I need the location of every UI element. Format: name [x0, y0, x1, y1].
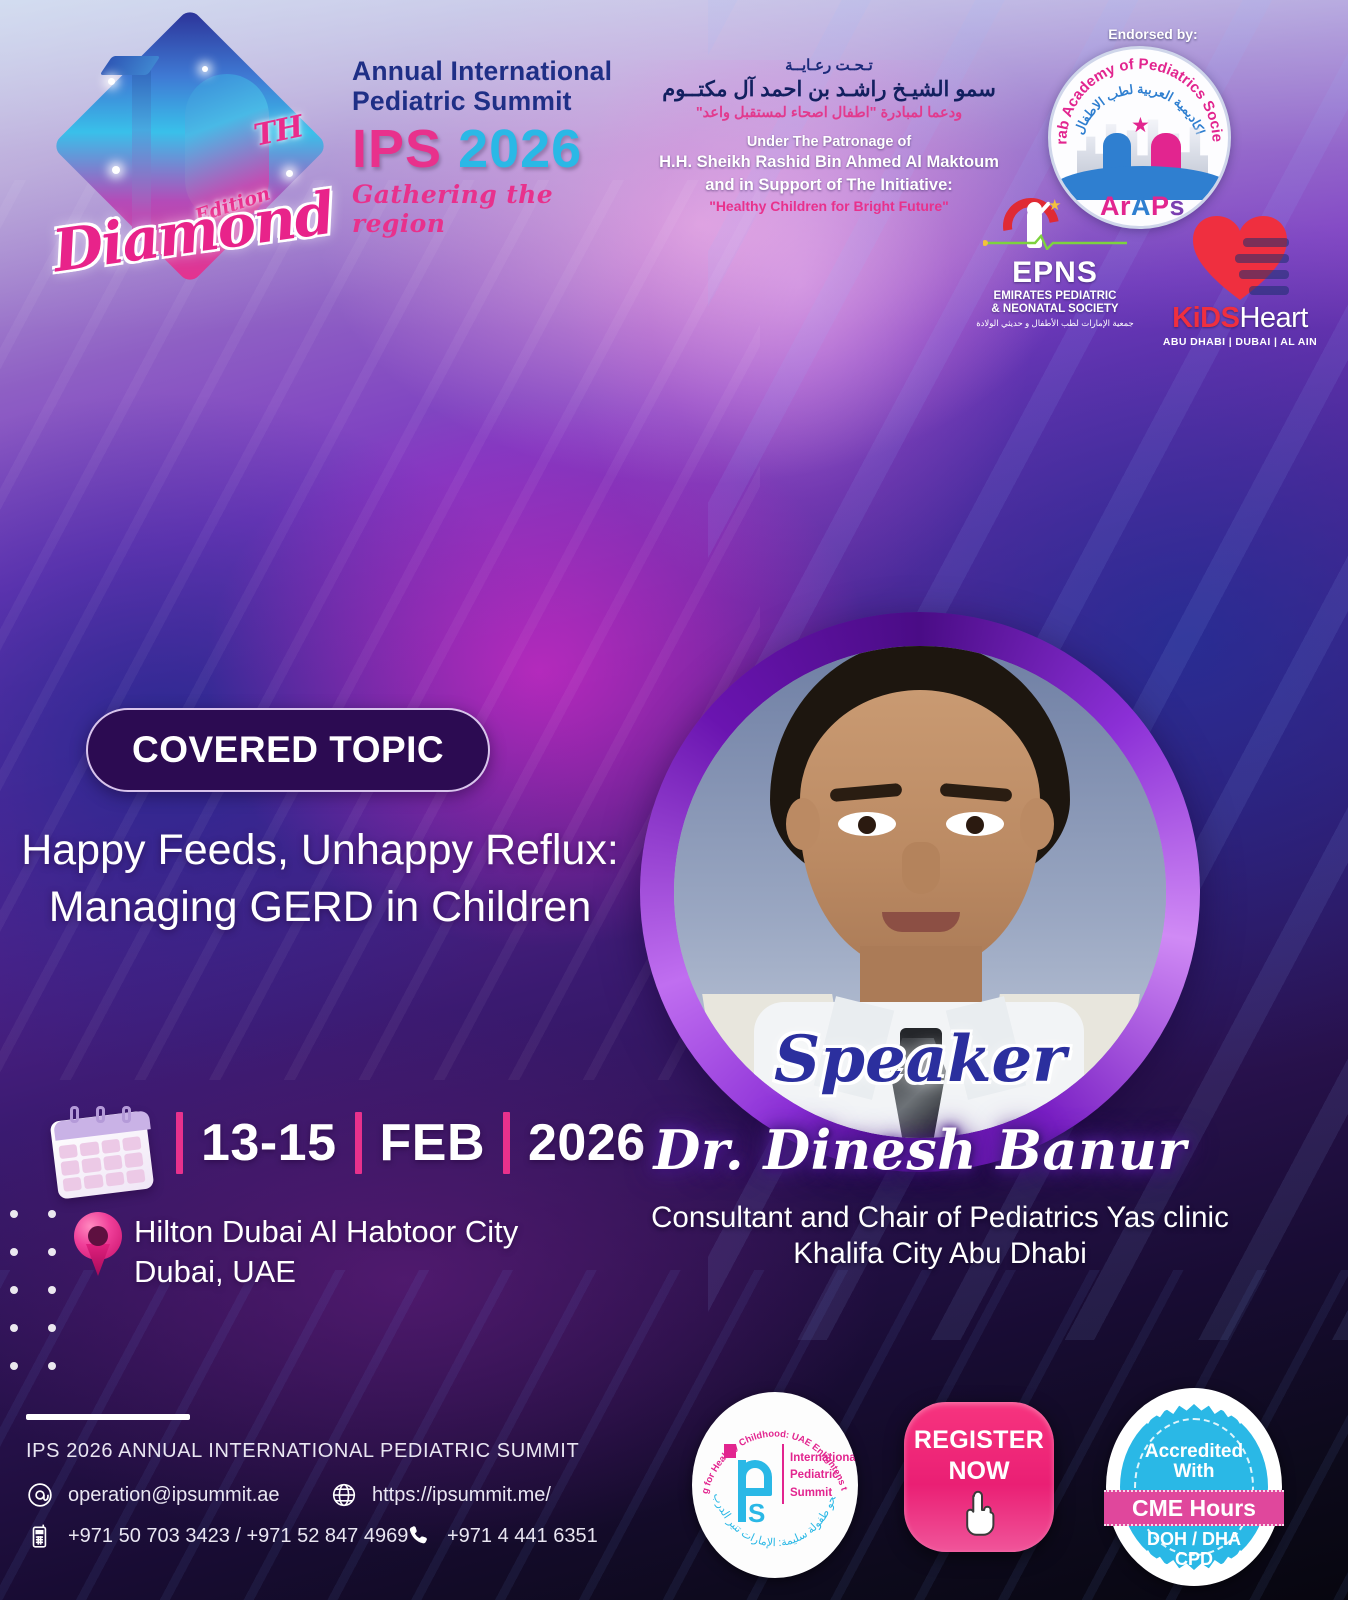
sparkle-icon	[112, 166, 120, 174]
calendar-ring	[96, 1106, 105, 1123]
ips-summit-seal: Striving for Healthy Childhood: UAE Enli…	[692, 1392, 858, 1578]
kidsheart-name-light: Heart	[1239, 302, 1307, 334]
epns-ecg-line-icon	[983, 234, 1127, 250]
epns-mark-icon: ★	[975, 196, 1135, 258]
cme-authority-line1: DOH / DHA	[1106, 1530, 1282, 1550]
ips-seal-divider	[782, 1444, 784, 1504]
sparkle-icon	[108, 78, 115, 85]
contact-mobile-value: +971 50 703 3423 / +971 52 847 4969	[68, 1525, 408, 1548]
kidsheart-logo: KiDSHeart ABU DHABI | DUBAI | AL AIN	[1155, 212, 1325, 348]
endorsed-by-label: Endorsed by:	[1058, 26, 1248, 42]
patronage-arabic-line2: سمو الشيـخ راشـد بن احمد آل مكتــوم	[636, 77, 1022, 102]
kidsheart-heart-icon	[1155, 212, 1325, 304]
calendar-ring	[122, 1106, 131, 1123]
summit-year: 2026	[458, 119, 582, 179]
ips-seal-line3: Summit	[790, 1485, 858, 1502]
footer-organization: IPS 2026 ANNUAL INTERNATIONAL PEDIATRIC …	[26, 1440, 579, 1463]
summit-acronym-year: IPS 2026	[352, 122, 642, 176]
contact-telephone[interactable]: +971 4 441 6351	[405, 1522, 598, 1550]
pointing-hand-cursor-icon	[958, 1488, 1000, 1541]
summit-title-line2: Pediatric Summit	[352, 86, 642, 116]
footer-divider	[26, 1414, 190, 1420]
patronage-english-line4: "Healthy Children for Bright Future"	[636, 198, 1022, 214]
venue-line2: Dubai, UAE	[134, 1252, 564, 1292]
contact-email-value: operation@ipsummit.ae	[68, 1484, 280, 1507]
speaker-role-line1: Consultant and Chair of Pediatrics Yas c…	[600, 1200, 1280, 1236]
patronage-english-line1: Under The Patronage of	[636, 134, 1022, 150]
ips-seal-text: International Pediatric Summit	[790, 1450, 858, 1502]
globe-icon	[330, 1481, 358, 1509]
calendar-icon	[48, 1100, 152, 1196]
phone-icon	[405, 1522, 433, 1550]
contact-mobile[interactable]: +971 50 703 3423 / +971 52 847 4969	[26, 1522, 408, 1550]
patronage-arabic-line1: تـحـت رعـايــة	[636, 56, 1022, 74]
contact-telephone-value: +971 4 441 6351	[447, 1525, 598, 1548]
tenth-edition-diamond-logo: TH Edition Diamond	[46, 26, 336, 291]
date-divider	[176, 1112, 183, 1174]
decorative-dot-grid	[10, 1210, 56, 1370]
contact-email[interactable]: operation@ipsummit.ae	[26, 1481, 280, 1509]
register-button-line1: REGISTER	[914, 1426, 1044, 1455]
event-date-row: 13-15 FEB 2026	[158, 1112, 646, 1174]
patronage-block: تـحـت رعـايــة سمو الشيـخ راشـد بن احمد …	[636, 56, 1022, 214]
contact-website[interactable]: https://ipsummit.me/	[330, 1481, 551, 1509]
register-button-line2: NOW	[948, 1457, 1009, 1486]
date-divider	[503, 1112, 510, 1174]
epns-subtitle-line1: EMIRATES PEDIATRIC	[975, 290, 1135, 303]
summit-title-block: Annual International Pediatric Summit IP…	[352, 56, 642, 238]
ips-seal-line1: International	[790, 1450, 858, 1467]
covered-topic-label: COVERED TOPIC	[132, 729, 444, 770]
event-days: 13-15	[201, 1113, 337, 1173]
epns-logo: ★ EPNS EMIRATES PEDIATRIC & NEONATAL SOC…	[975, 196, 1135, 329]
topic-title: Happy Feeds, Unhappy Reflux: Managing GE…	[20, 822, 620, 936]
venue-address: Hilton Dubai Al Habtoor City Dubai, UAE	[134, 1212, 564, 1291]
summit-title-line1: Annual International	[352, 56, 642, 86]
patronage-english-line3: and in Support of The Initiative:	[636, 175, 1022, 196]
cme-authority-line2: CPD	[1106, 1550, 1282, 1570]
sparkle-icon	[286, 170, 293, 177]
date-divider	[355, 1112, 362, 1174]
patronage-english-line2: H.H. Sheikh Rashid Bin Ahmed Al Maktoum	[636, 152, 1022, 173]
event-poster: TH Edition Diamond Annual International …	[0, 0, 1348, 1600]
cme-ribbon-label: CME Hours	[1132, 1495, 1256, 1522]
ips-monogram-icon: S	[722, 1444, 778, 1524]
speaker-role: Consultant and Chair of Pediatrics Yas c…	[600, 1200, 1280, 1272]
epns-name: EPNS	[975, 258, 1135, 288]
sparkle-icon	[202, 66, 208, 72]
register-now-button[interactable]: REGISTER NOW	[904, 1402, 1054, 1552]
araps-star-icon: ★	[1131, 113, 1150, 138]
contact-website-value: https://ipsummit.me/	[372, 1484, 551, 1507]
cme-ribbon: CME Hours	[1104, 1490, 1284, 1526]
location-pin-icon	[72, 1212, 124, 1278]
cme-accreditation-badge: Accredited With CME Hours DOH / DHA CPD	[1106, 1388, 1282, 1586]
kidsheart-name: KiDSHeart	[1155, 304, 1325, 333]
speaker-label: Speaker	[640, 1022, 1200, 1097]
ips-seal-line2: Pediatric	[790, 1467, 858, 1484]
heart-finger-cuts	[1215, 232, 1289, 290]
calendar-ring	[70, 1106, 79, 1123]
speaker-name: Dr. Dinesh Banur	[600, 1118, 1240, 1182]
at-sign-icon	[26, 1481, 54, 1509]
speaker-role-line2: Khalifa City Abu Dhabi	[600, 1236, 1280, 1272]
venue-line1: Hilton Dubai Al Habtoor City	[134, 1212, 564, 1252]
epns-star-icon: ★	[1048, 196, 1061, 214]
kidsheart-name-bold: KiDS	[1172, 302, 1239, 334]
covered-topic-badge: COVERED TOPIC	[86, 708, 490, 792]
patronage-arabic-line3: ودعما لمبادرة "اطفال اصحاء لمستقبل واعد"	[636, 105, 1022, 121]
cme-accredited-line2: With	[1106, 1462, 1282, 1482]
summit-acronym: IPS	[352, 119, 442, 179]
cme-accredited-text: Accredited With	[1106, 1442, 1282, 1482]
summit-tagline: Gathering the region	[352, 180, 642, 238]
cme-authority-text: DOH / DHA CPD	[1106, 1530, 1282, 1570]
mobile-phone-icon	[26, 1522, 54, 1550]
kidsheart-locations: ABU DHABI | DUBAI | AL AIN	[1155, 336, 1325, 348]
epns-arabic: جمعية الإمارات لطب الأطفال و حديثي الولا…	[975, 318, 1135, 329]
epns-subtitle-line2: & NEONATAL SOCIETY	[975, 303, 1135, 316]
cme-accredited-line1: Accredited	[1106, 1442, 1282, 1462]
event-month: FEB	[380, 1113, 486, 1173]
